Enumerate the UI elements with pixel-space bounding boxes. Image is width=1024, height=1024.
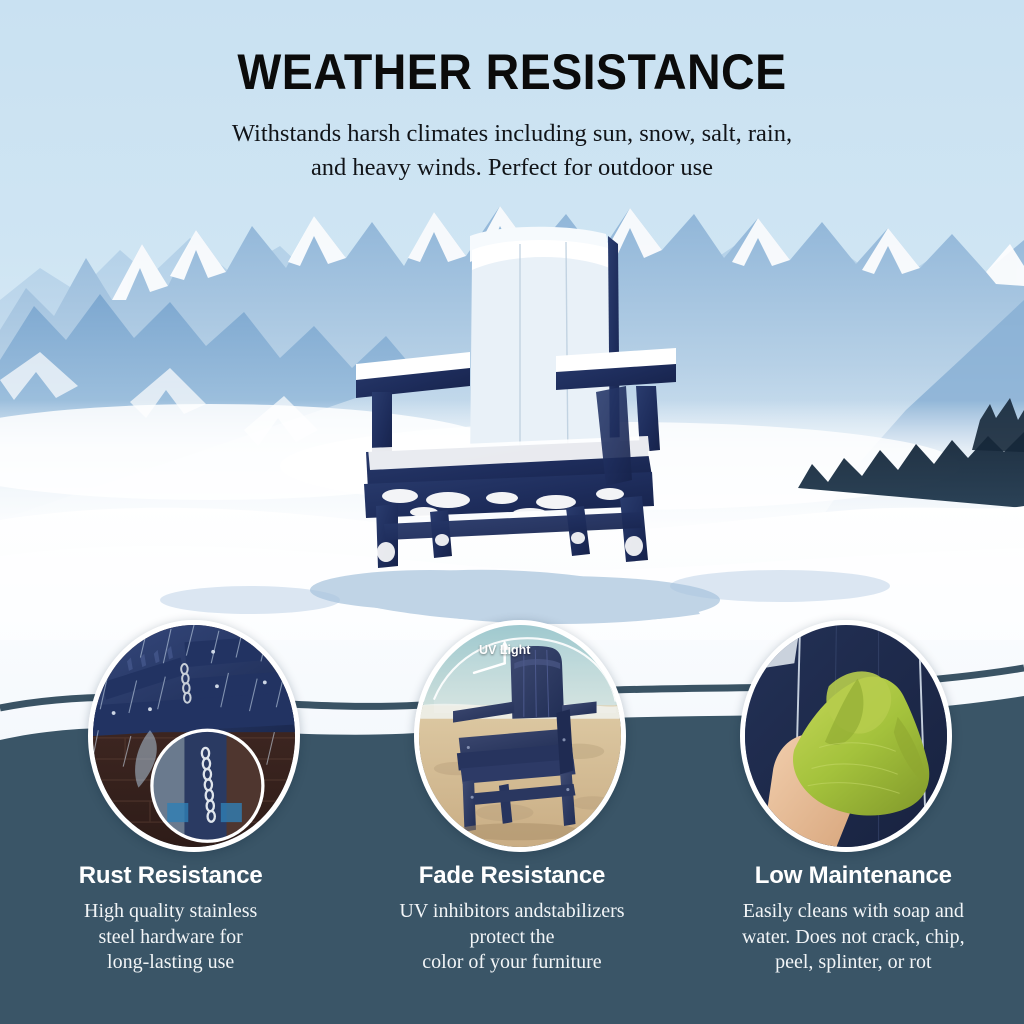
caption-rust-resistance: Rust Resistance High quality stainless s… bbox=[0, 862, 341, 976]
caption-body: Easily cleans with soap and water. Does … bbox=[697, 899, 1010, 976]
subtitle-line-2: and heavy winds. Perfect for outdoor use bbox=[132, 151, 892, 186]
caption-title: Rust Resistance bbox=[14, 862, 327, 890]
caption-line-2: steel hardware for bbox=[14, 925, 327, 951]
subtitle-line-1: Withstands harsh climates including sun,… bbox=[132, 117, 892, 152]
caption-line-3: long-lasting use bbox=[14, 950, 327, 976]
page-title: WEATHER RESISTANCE bbox=[36, 46, 988, 99]
feature-image-fade-resistance: UV Light bbox=[414, 620, 626, 852]
caption-low-maintenance: Low Maintenance Easily cleans with soap … bbox=[683, 862, 1024, 976]
caption-title: Low Maintenance bbox=[697, 862, 1010, 890]
rust-resistance-illustration bbox=[93, 625, 295, 847]
fade-resistance-illustration bbox=[419, 625, 621, 847]
caption-line-2: protect the bbox=[355, 925, 668, 951]
caption-body: UV inhibitors andstabilizers protect the… bbox=[355, 899, 668, 976]
caption-line-3: peel, splinter, or rot bbox=[697, 950, 1010, 976]
caption-line-3: color of your furniture bbox=[355, 950, 668, 976]
feature-image-rust-resistance bbox=[88, 620, 300, 852]
uv-light-label: UV Light bbox=[479, 643, 530, 657]
feature-captions: Rust Resistance High quality stainless s… bbox=[0, 862, 1024, 976]
feature-image-low-maintenance bbox=[740, 620, 952, 852]
page-subtitle: Withstands harsh climates including sun,… bbox=[132, 117, 892, 187]
caption-fade-resistance: Fade Resistance UV inhibitors andstabili… bbox=[341, 862, 682, 976]
infographic-canvas: WEATHER RESISTANCE Withstands harsh clim… bbox=[0, 0, 1024, 1024]
caption-title: Fade Resistance bbox=[355, 862, 668, 890]
caption-line-1: UV inhibitors andstabilizers bbox=[355, 899, 668, 925]
caption-line-1: Easily cleans with soap and bbox=[697, 899, 1010, 925]
header-block: WEATHER RESISTANCE Withstands harsh clim… bbox=[0, 0, 1024, 186]
low-maintenance-illustration bbox=[745, 625, 947, 847]
caption-body: High quality stainless steel hardware fo… bbox=[14, 899, 327, 976]
caption-line-1: High quality stainless bbox=[14, 899, 327, 925]
caption-line-2: water. Does not crack, chip, bbox=[697, 925, 1010, 951]
